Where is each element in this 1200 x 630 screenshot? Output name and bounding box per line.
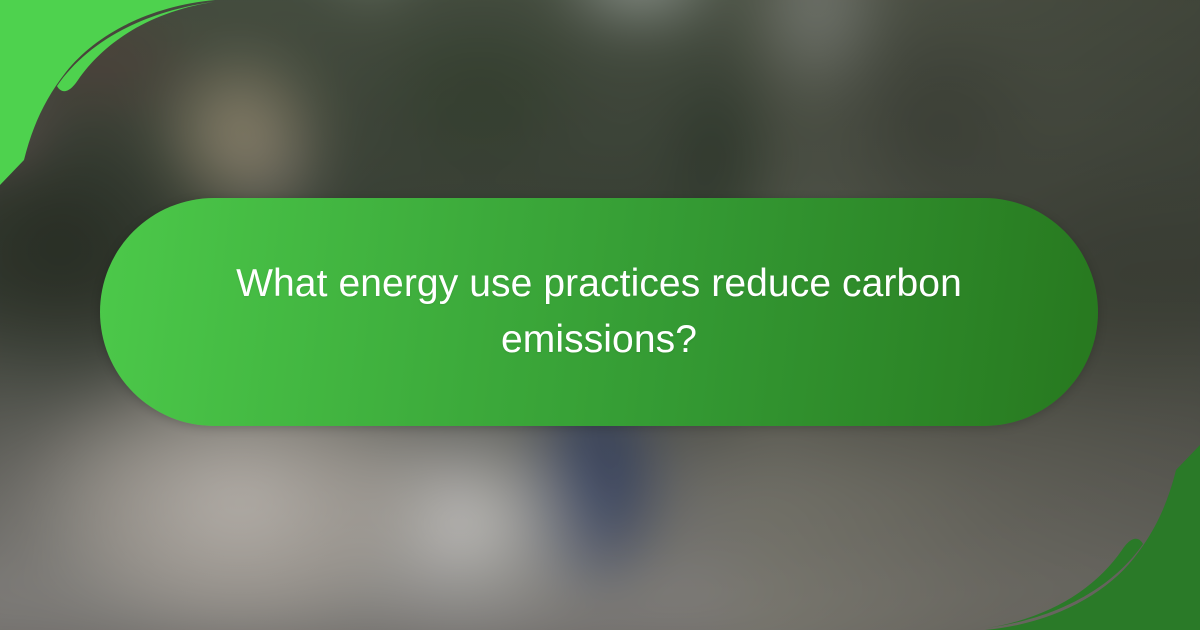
question-text: What energy use practices reduce carbon … [159,256,1039,368]
social-card: What energy use practices reduce carbon … [0,0,1200,630]
question-card: What energy use practices reduce carbon … [100,198,1098,426]
